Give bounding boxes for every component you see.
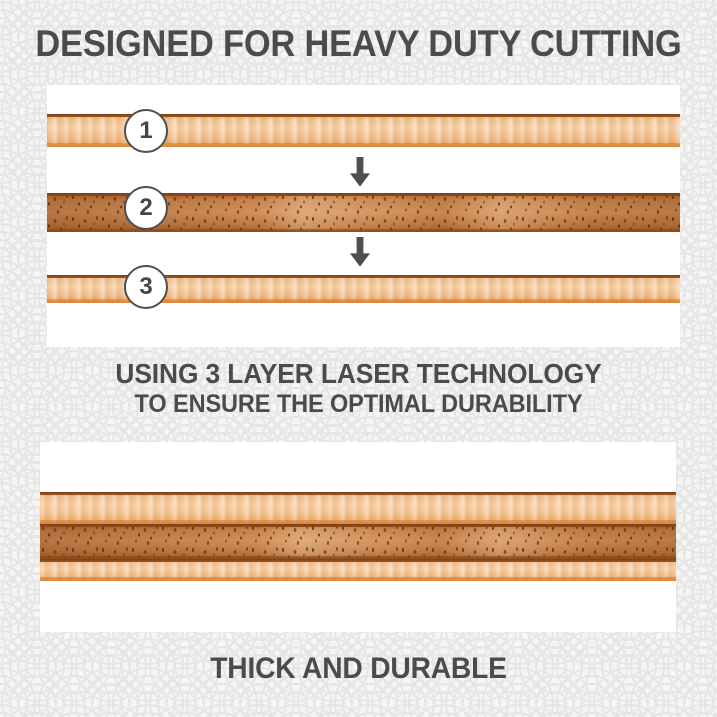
down-arrow-icon [347,237,373,267]
layers-panel: 1 2 3 [47,85,680,347]
layer-number-badge-3: 3 [124,265,168,309]
assembled-bamboo-board [40,492,676,581]
middle-caption-line-2: TO ENSURE THE OPTIMAL DURABILITY [22,392,696,418]
bottom-caption: THICK AND DURABLE [22,652,696,686]
board-top-layer [40,492,676,524]
board-panel [40,442,676,632]
middle-caption: USING 3 LAYER LASER TECHNOLOGY TO ENSURE… [0,360,717,417]
infographic-root: DESIGNED FOR HEAVY DUTY CUTTING 1 2 3 US… [0,0,717,717]
middle-caption-line-1: USING 3 LAYER LASER TECHNOLOGY [22,360,696,389]
board-core-layer [40,524,676,559]
down-arrow-icon [347,157,373,187]
layer-number-badge-2: 2 [124,186,168,230]
page-title: DESIGNED FOR HEAVY DUTY CUTTING [25,22,692,66]
board-bottom-layer [40,559,676,581]
layer-number-badge-1: 1 [124,109,168,153]
